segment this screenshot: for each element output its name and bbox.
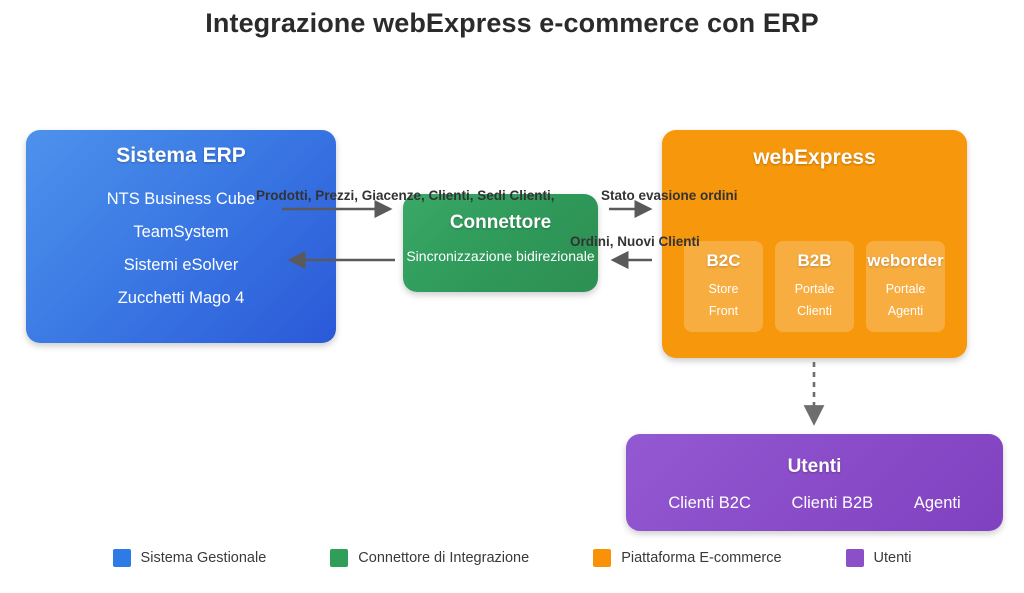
flow-arrows bbox=[0, 0, 1024, 593]
legend-swatch-icon-purple bbox=[846, 549, 864, 567]
legend-item-utenti[interactable]: Utenti bbox=[846, 549, 912, 567]
legend-item-piattaforma-ecommerce[interactable]: Piattaforma E-commerce bbox=[593, 549, 781, 567]
legend-swatch-icon-green bbox=[330, 549, 348, 567]
legend-label-sistema-gestionale: Sistema Gestionale bbox=[141, 550, 267, 566]
legend-label-utenti: Utenti bbox=[874, 550, 912, 566]
legend-item-connettore-di-integrazione[interactable]: Connettore di Integrazione bbox=[330, 549, 529, 567]
flow-label-connector-to-webexpress: Stato evasione ordini bbox=[601, 188, 738, 203]
legend-label-piattaforma-ecommerce: Piattaforma E-commerce bbox=[621, 550, 781, 566]
legend: Sistema Gestionale Connettore di Integra… bbox=[0, 549, 1024, 567]
legend-item-sistema-gestionale[interactable]: Sistema Gestionale bbox=[113, 549, 267, 567]
legend-swatch-icon-blue bbox=[113, 549, 131, 567]
legend-swatch-icon-orange bbox=[593, 549, 611, 567]
flow-label-webexpress-to-connector: Ordini, Nuovi Clienti bbox=[570, 234, 700, 249]
legend-label-connettore-di-integrazione: Connettore di Integrazione bbox=[358, 550, 529, 566]
flow-label-erp-to-connector: Prodotti, Prezzi, Giacenze, Clienti, Sed… bbox=[256, 188, 555, 203]
